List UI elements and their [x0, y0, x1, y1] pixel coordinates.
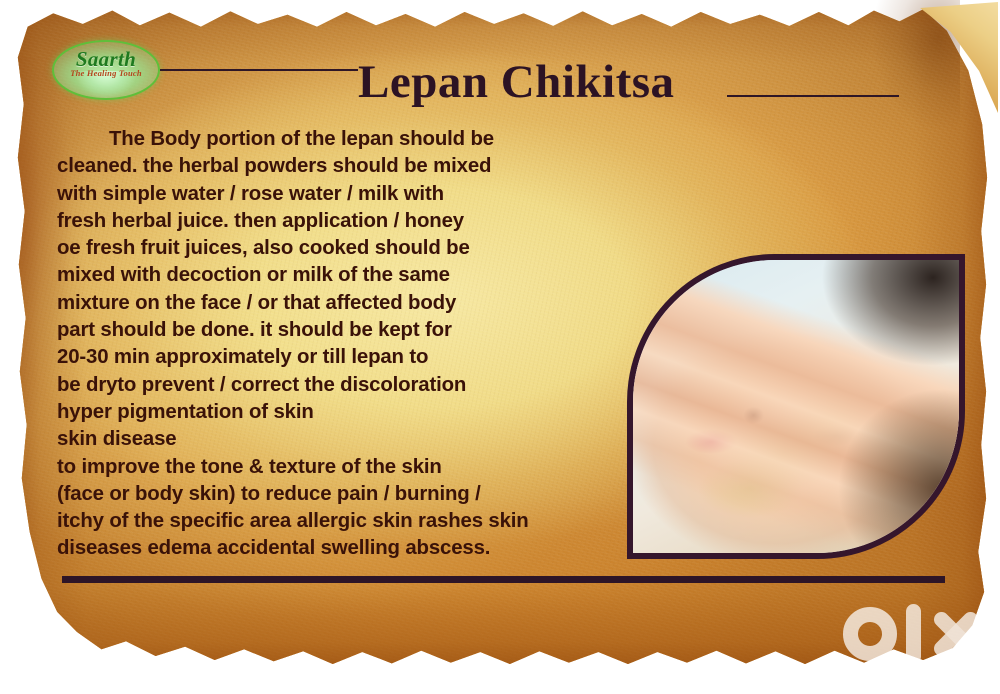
body-line: part should be done. it should be kept f… — [57, 317, 617, 344]
body-line: skin disease — [57, 426, 617, 453]
page-title: Lepan Chikitsa — [358, 55, 738, 110]
body-line: itchy of the specific area allergic skin… — [57, 508, 617, 535]
treatment-photo-frame — [627, 254, 965, 559]
body-line: 20-30 min approximately or till lepan to — [57, 344, 617, 371]
body-line: (face or body skin) to reduce pain / bur… — [57, 481, 617, 508]
body-line: oe fresh fruit juices, also cooked shoul… — [57, 235, 617, 262]
body-line: The Body portion of the lepan should be — [57, 126, 617, 153]
body-line: diseases edema accidental swelling absce… — [57, 535, 617, 562]
poster-canvas: Saarth The Healing Touch Lepan Chikitsa … — [0, 0, 1000, 694]
treatment-photo — [633, 260, 959, 553]
body-line: mixture on the face / or that affected b… — [57, 290, 617, 317]
header-rule-right — [727, 95, 899, 97]
body-line: to improve the tone & texture of the ski… — [57, 454, 617, 481]
header-rule-left — [160, 69, 358, 71]
body-line: cleaned. the herbal powders should be mi… — [57, 153, 617, 180]
footer-rule — [62, 576, 945, 583]
brand-logo: Saarth The Healing Touch — [52, 40, 160, 100]
body-line: hyper pigmentation of skin — [57, 399, 617, 426]
body-line: be dryto prevent / correct the discolora… — [57, 372, 617, 399]
body-line: fresh herbal juice. then application / h… — [57, 208, 617, 235]
brand-tagline: The Healing Touch — [54, 69, 158, 78]
body-line: with simple water / rose water / milk wi… — [57, 181, 617, 208]
brand-name: Saarth — [54, 49, 158, 70]
body-copy: The Body portion of the lepan should be … — [57, 126, 617, 563]
body-line: mixed with decoction or milk of the same — [57, 262, 617, 289]
